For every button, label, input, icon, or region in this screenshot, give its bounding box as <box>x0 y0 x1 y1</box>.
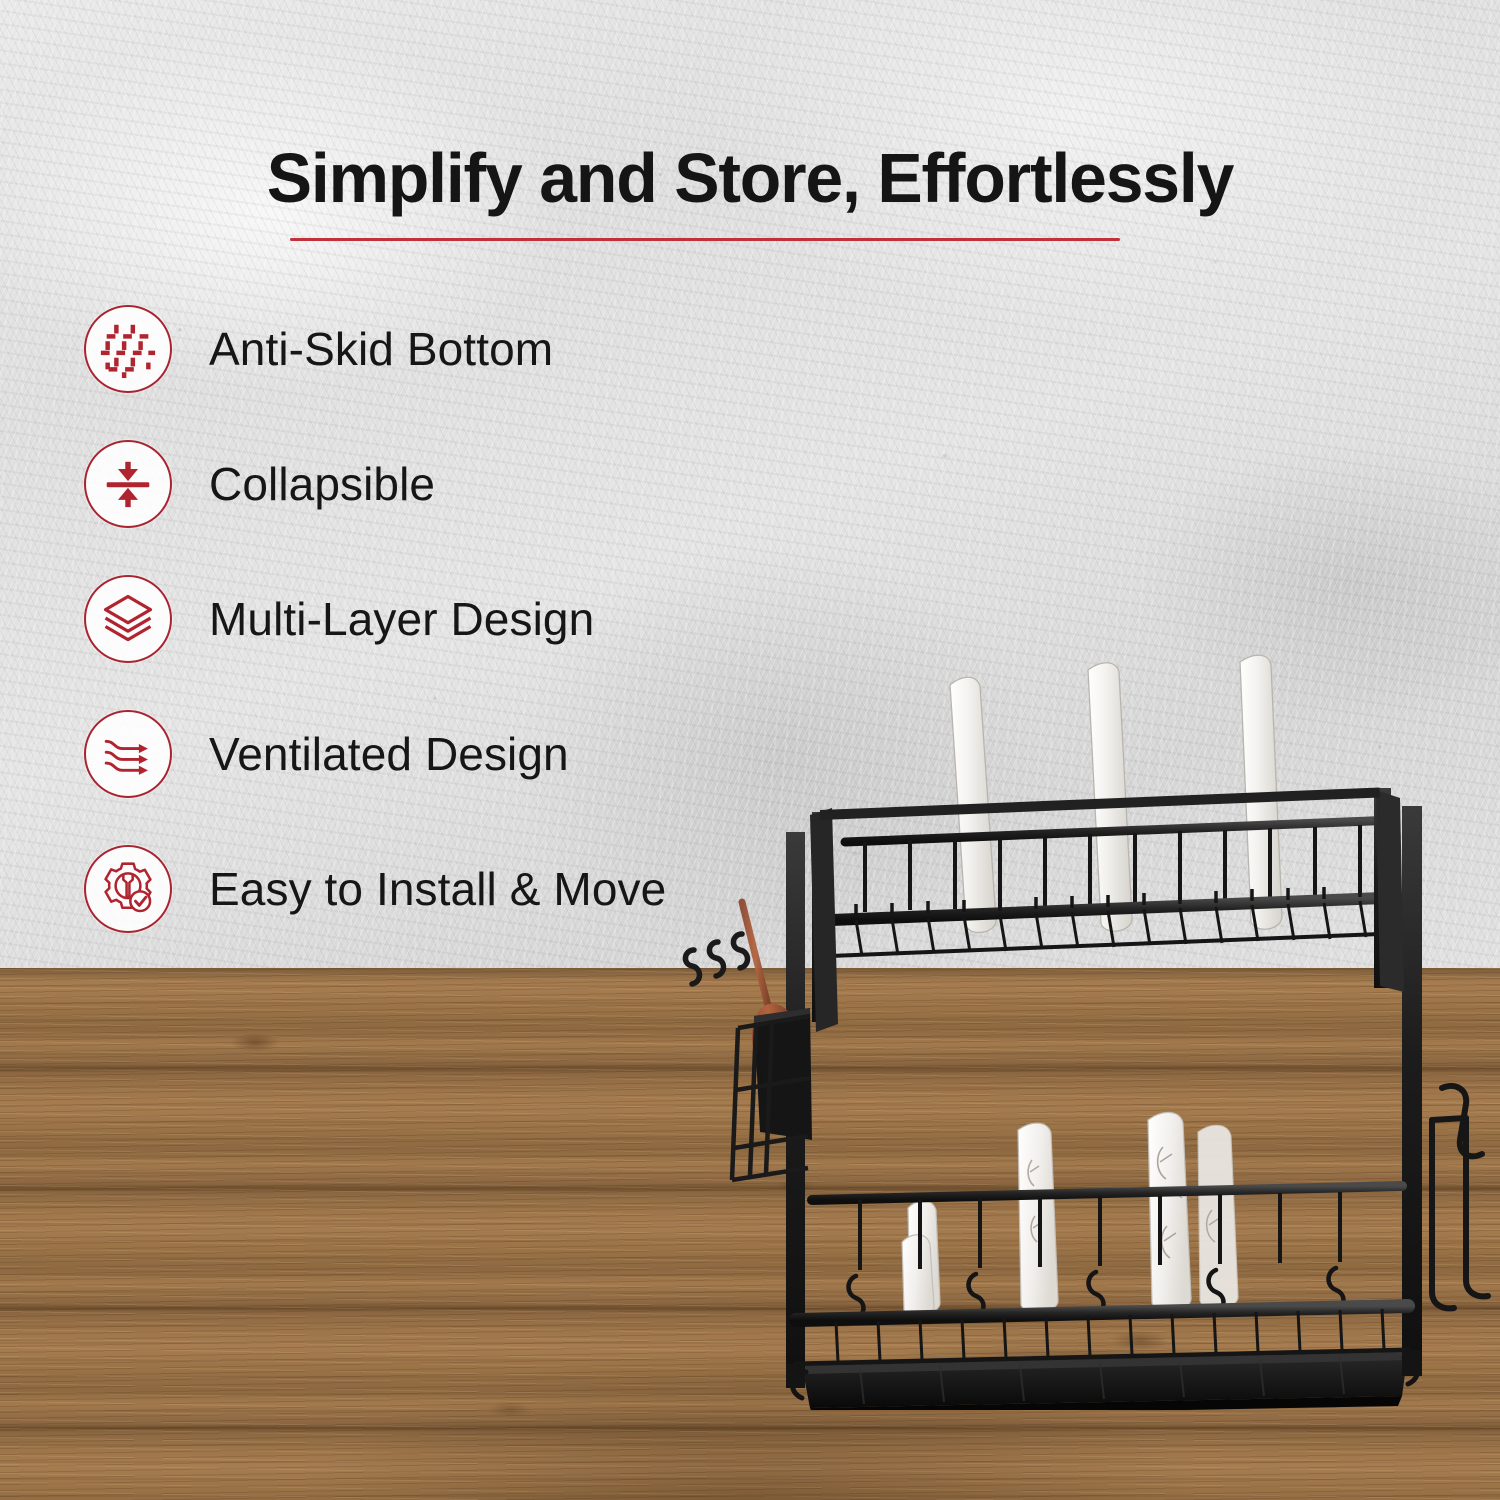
anti-skid-grid-icon <box>84 305 172 393</box>
feature-label: Collapsible <box>209 457 435 511</box>
product-feature-graphic: Simplify and Store, Effortlessly <box>0 0 1500 1500</box>
feature-label: Ventilated Design <box>209 727 569 781</box>
gear-wrench-check-icon <box>84 845 172 933</box>
feature-label: Easy to Install & Move <box>209 862 666 916</box>
page-title: Simplify and Store, Effortlessly <box>23 138 1478 218</box>
feature-item-anti-skid: Anti-Skid Bottom <box>84 296 844 402</box>
stacked-layers-icon <box>84 575 172 663</box>
feature-item-collapsible: Collapsible <box>84 431 844 537</box>
lower-shelf-basket <box>794 1186 1410 1364</box>
product-photo-dish-rack <box>660 620 1500 1410</box>
airflow-waves-icon <box>84 710 172 798</box>
collapse-arrows-icon <box>84 440 172 528</box>
side-wire-hook-rack <box>1432 1086 1488 1308</box>
bottom-tier-bowls <box>902 1112 1238 1317</box>
feature-label: Multi-Layer Design <box>209 592 594 646</box>
title-underline-rule <box>290 238 1120 241</box>
feature-label: Anti-Skid Bottom <box>209 322 553 376</box>
